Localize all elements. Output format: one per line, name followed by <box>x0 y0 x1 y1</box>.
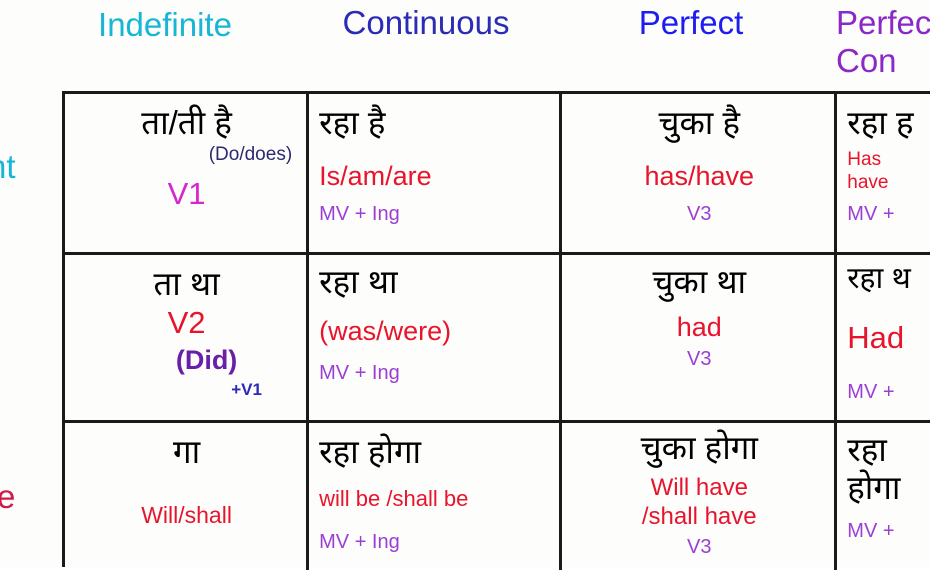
row-header-present: nt <box>0 148 16 186</box>
cell-aux: Will have /shall have <box>572 473 826 531</box>
cell-hindi: ता/ती है <box>75 104 298 142</box>
cell-hindi: रहा ह <box>847 104 922 142</box>
column-header-continuous: Continuous <box>296 4 556 42</box>
column-header-perfect-continuous: Perfect Con <box>836 4 930 80</box>
cell-future-indefinite: गा Will/shall <box>65 423 309 570</box>
cell-aux: (was/were) <box>319 315 551 347</box>
column-header-indefinite: Indefinite <box>40 6 290 44</box>
cell-hindi: चुका था <box>572 263 826 301</box>
cell-verb: MV + <box>847 202 922 226</box>
cell-past-indefinite: ता था V2 (Did) +V1 <box>65 255 309 420</box>
column-header-perfect: Perfect <box>566 4 816 42</box>
cell-future-perfect-continuous: रहा होगा MV + <box>837 423 930 570</box>
cell-hindi: चुका होगा <box>572 429 826 467</box>
cell-hindi: गा <box>75 433 298 471</box>
cell-hindi: रहा होगा <box>319 433 551 471</box>
cell-extra: +V1 <box>75 380 298 400</box>
cell-future-perfect: चुका होगा Will have /shall have V3 <box>562 423 837 570</box>
tense-grid: ता/ती है (Do/does) V1 रहा है Is/am/are M… <box>62 91 930 567</box>
cell-aux: Had <box>847 320 922 356</box>
cell-present-indefinite: ता/ती है (Do/does) V1 <box>65 94 309 252</box>
cell-verb: MV + Ing <box>319 530 551 554</box>
cell-aux: (Did) <box>75 345 298 376</box>
cell-past-perfect: चुका था had V3 <box>562 255 837 420</box>
cell-aux: had <box>572 311 826 343</box>
cell-present-perfect-continuous: रहा ह Has have MV + <box>837 94 930 252</box>
cell-hindi: रहा है <box>319 104 551 142</box>
cell-hindi: रहा थ <box>847 261 922 296</box>
table-row: ता/ती है (Do/does) V1 रहा है Is/am/are M… <box>65 94 930 255</box>
cell-verb: V2 <box>75 305 298 341</box>
cell-past-continuous: रहा था (was/were) MV + Ing <box>309 255 562 420</box>
cell-verb: V3 <box>572 202 826 226</box>
cell-verb: MV + Ing <box>319 202 551 226</box>
cell-present-perfect: चुका है has/have V3 <box>562 94 837 252</box>
cell-verb: V3 <box>572 535 826 559</box>
cell-hindi: रहा था <box>319 263 551 301</box>
cell-aux: Has have <box>847 148 922 194</box>
cell-verb: MV + <box>847 380 922 404</box>
cell-aux: Will/shall <box>75 501 298 529</box>
cell-verb: V3 <box>572 347 826 371</box>
cell-aux: (Do/does) <box>75 144 298 166</box>
cell-aux: will be /shall be <box>319 485 551 512</box>
cell-present-continuous: रहा है Is/am/are MV + Ing <box>309 94 562 252</box>
cell-past-perfect-continuous: रहा थ Had MV + <box>837 255 930 420</box>
cell-aux: Is/am/are <box>319 160 551 192</box>
table-row: गा Will/shall रहा होगा will be /shall be… <box>65 423 930 570</box>
cell-hindi: रहा होगा <box>847 431 922 507</box>
table-row: ता था V2 (Did) +V1 रहा था (was/were) MV … <box>65 255 930 423</box>
cell-aux: has/have <box>572 160 826 192</box>
cell-hindi: ता था <box>75 265 298 303</box>
cell-future-continuous: रहा होगा will be /shall be MV + Ing <box>309 423 562 570</box>
cell-verb: MV + Ing <box>319 361 551 385</box>
tense-chart-page: Indefinite Continuous Perfect Perfect Co… <box>0 0 930 567</box>
cell-verb: V1 <box>75 176 298 212</box>
row-header-future: re <box>0 478 15 516</box>
cell-hindi: चुका है <box>572 104 826 142</box>
cell-verb: MV + <box>847 519 922 543</box>
